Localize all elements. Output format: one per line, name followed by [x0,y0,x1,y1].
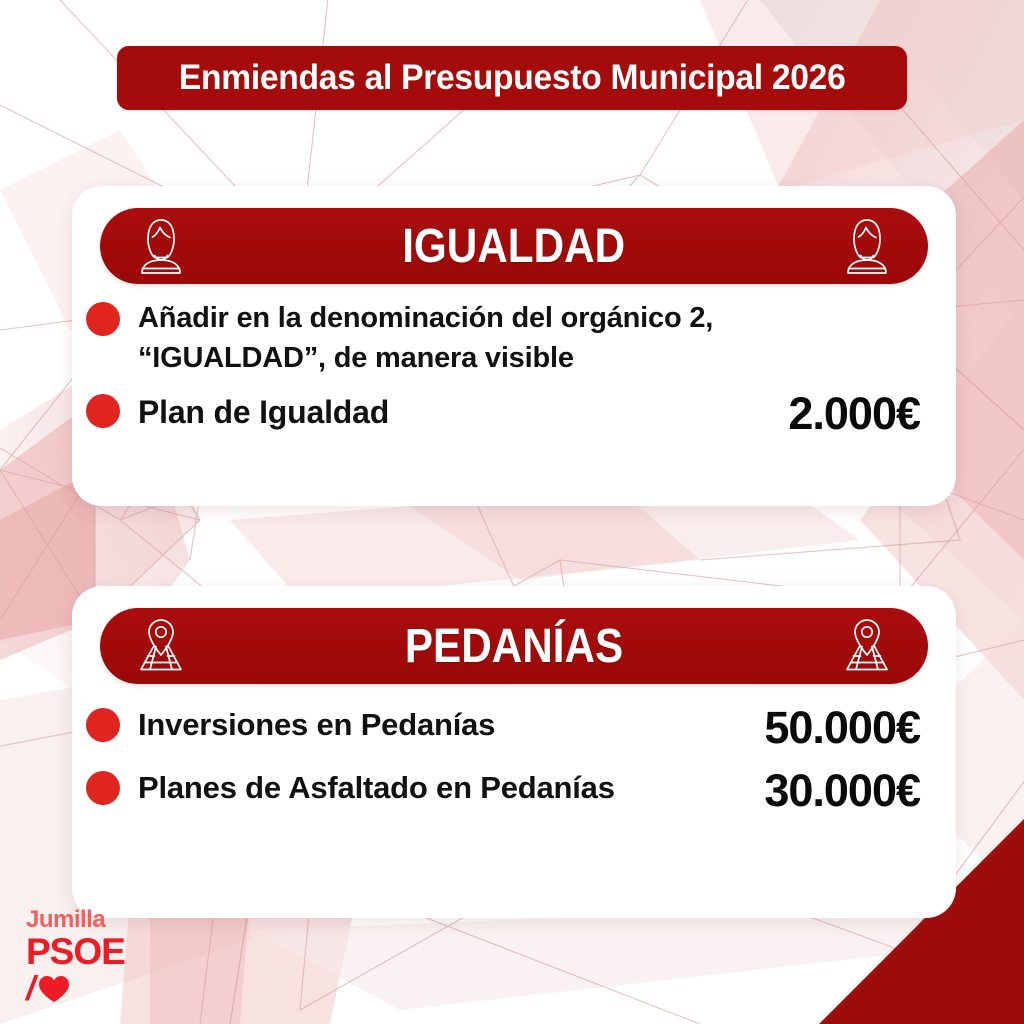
heart-icon [37,974,71,1004]
bullet-dot-icon [86,708,120,742]
psoe-jumilla-logo: Jumilla PSOE / [26,908,125,1006]
poster-title-banner: Enmiendas al Presupuesto Municipal 2026 [117,46,907,110]
logo-slash: / [26,972,35,1006]
list-item: Inversiones en Pedanías 50.000€ [72,704,956,751]
amendment-amount: 2.000€ [705,390,920,437]
bullet-dot-icon [86,771,120,805]
list-item: Plan de Igualdad 2.000€ [72,390,956,437]
section-title-igualdad: IGUALDAD [403,219,626,274]
amendment-label: Añadir en la denominación del orgánico 2… [138,298,920,378]
amendment-label: Planes de Asfaltado en Pedanías [138,767,705,810]
list-item: Planes de Asfaltado en Pedanías 30.000€ [72,767,956,814]
woman-bust-icon [134,217,188,275]
logo-mark: / [26,972,125,1006]
section-card-pedanias: PEDANÍAS [72,586,956,918]
amendment-label: Inversiones en Pedanías [138,704,705,747]
section-card-igualdad: IGUALDAD Añadir en la denominación del o… [72,186,956,506]
list-item: Añadir en la denominación del orgánico 2… [72,298,956,378]
section-header-pedanias: PEDANÍAS [100,608,928,684]
amendment-label: Plan de Igualdad [138,390,705,434]
map-pin-icon [840,617,894,675]
poster-canvas: Enmiendas al Presupuesto Municipal 2026 … [0,0,1024,1024]
logo-city-label: Jumilla [26,908,125,932]
section-header-igualdad: IGUALDAD [100,208,928,284]
bullet-dot-icon [86,394,120,428]
amendment-amount: 30.000€ [705,767,920,814]
logo-party-label: PSOE [26,933,125,970]
amendment-list-pedanias: Inversiones en Pedanías 50.000€ Planes d… [72,704,956,831]
amendment-list-igualdad: Añadir en la denominación del orgánico 2… [72,298,956,453]
page-title: Enmiendas al Presupuesto Municipal 2026 [179,58,846,98]
woman-bust-icon [840,217,894,275]
bullet-dot-icon [86,302,120,336]
map-pin-icon [134,617,188,675]
amendment-amount: 50.000€ [705,704,920,751]
section-title-pedanias: PEDANÍAS [405,619,623,674]
